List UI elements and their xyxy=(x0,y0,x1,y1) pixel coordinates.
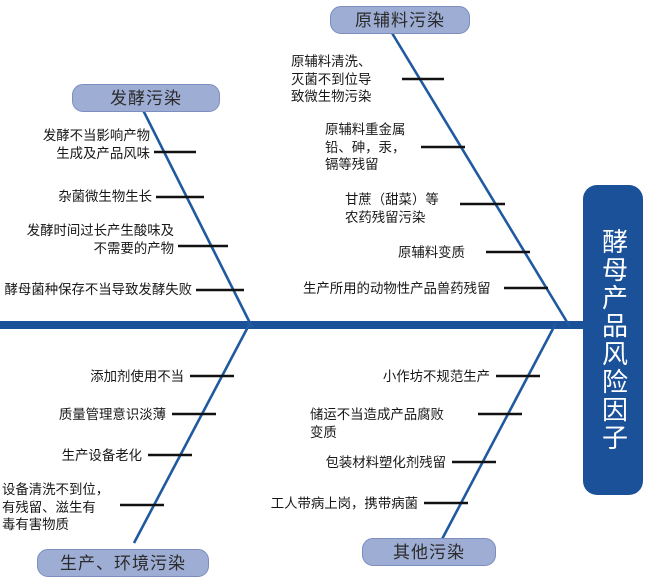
cause-raw-material-2: 原辅料重金属 铅、砷，汞， 镉等残留 xyxy=(325,121,437,174)
cause-fermentation-1: 发酵不当影响产物 生成及产品风味 xyxy=(4,127,150,162)
cause-production-environment-2: 质量管理意识淡薄 xyxy=(10,406,166,424)
cause-raw-material-5: 生产所用的动物性产品兽药残留 xyxy=(303,280,508,298)
cause-production-environment-3: 生产设备老化 xyxy=(10,447,142,465)
category-label-raw-material[interactable]: 原辅料污染 xyxy=(330,6,470,34)
cause-other-2: 储运不当造成产品腐败 变质 xyxy=(310,406,476,441)
category-label-production-environment-text: 生产、环境污染 xyxy=(60,555,186,572)
fishbone-head-box[interactable]: 酵母产品风险因子 xyxy=(583,185,643,495)
cause-raw-material-3: 甘蔗（甜菜）等 农药残留污染 xyxy=(345,191,470,226)
cause-fermentation-2: 杂菌微生物生长 xyxy=(4,188,152,206)
cause-raw-material-1: 原辅料清洗、 灭菌不到位导 致微生物污染 xyxy=(291,53,403,106)
cause-production-environment-1: 添加剂使用不当 xyxy=(20,368,184,386)
category-label-other[interactable]: 其他污染 xyxy=(362,538,496,566)
category-label-fermentation[interactable]: 发酵污染 xyxy=(72,84,220,112)
category-label-production-environment[interactable]: 生产、环境污染 xyxy=(37,549,209,577)
category-label-fermentation-text: 发酵污染 xyxy=(110,90,182,107)
cause-raw-material-4: 原辅料变质 xyxy=(398,244,498,262)
cause-production-environment-4: 设备清洗不到位， 有残留、滋生有 毒有害物质 xyxy=(2,481,120,534)
cause-fermentation-3: 发酵时间过长产生酸味及 不需要的产物 xyxy=(4,222,174,257)
branch-line-production-environment xyxy=(134,323,250,543)
category-label-other-text: 其他污染 xyxy=(393,544,465,561)
cause-fermentation-4: 酵母菌种保存不当导致发酵失败 xyxy=(0,281,192,299)
cause-other-4: 工人带病上岗，携带病菌 xyxy=(250,495,418,513)
cause-other-1: 小作坊不规范生产 xyxy=(340,368,490,386)
category-label-raw-material-text: 原辅料污染 xyxy=(355,12,445,29)
fishbone-diagram: 发酵污染 原辅料污染 生产、环境污染 其他污染 酵母产品风险因子 发酵不当影响产… xyxy=(0,0,650,579)
fishbone-head-label: 酵母产品风险因子 xyxy=(598,228,627,452)
cause-other-3: 包装材料塑化剂残留 xyxy=(290,454,446,472)
